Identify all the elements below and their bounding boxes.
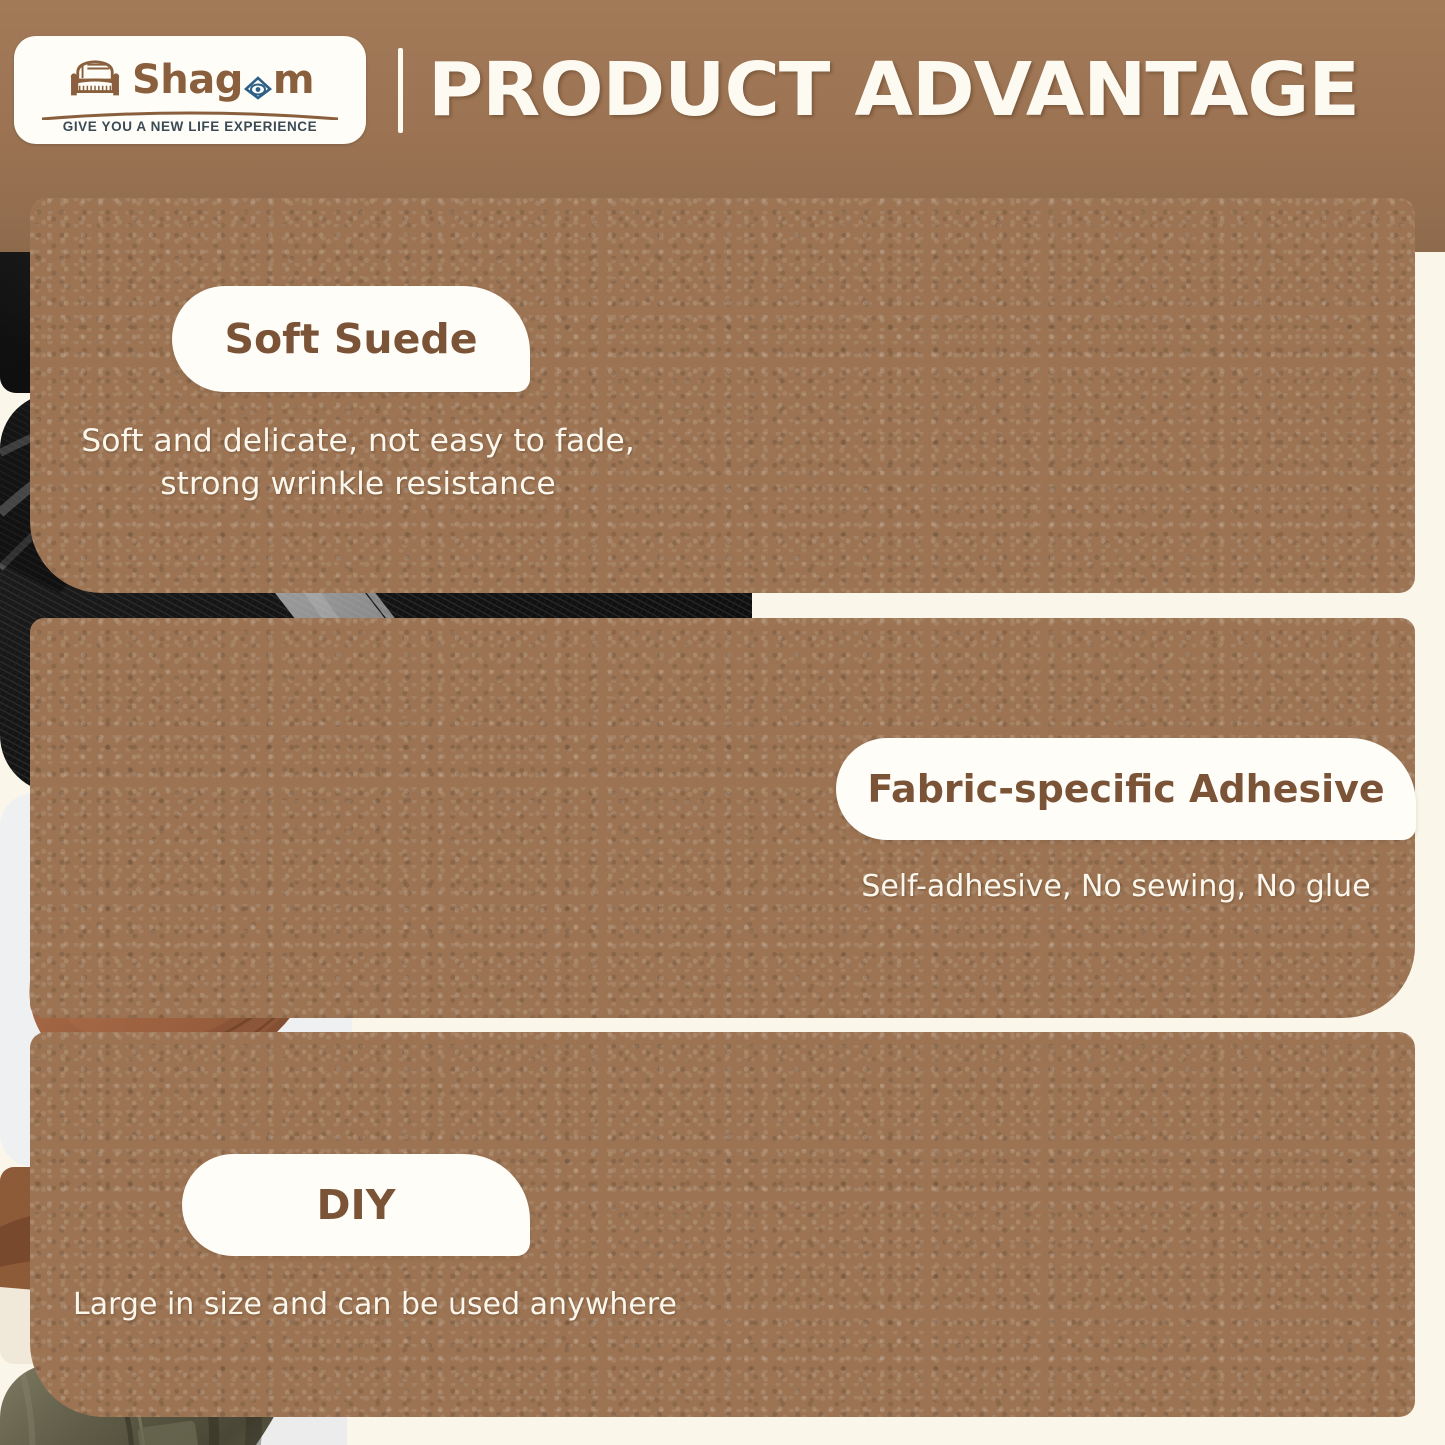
feature-label-pill-diy: DIY bbox=[182, 1154, 530, 1256]
caption-line: Soft and delicate, not easy to fade, bbox=[58, 420, 658, 463]
feature-label-text: Soft Suede bbox=[224, 315, 477, 363]
logo-main-row: Shag m bbox=[66, 51, 314, 109]
feature-panel-fabric-adhesive: Fabric-specific Adhesive Self-adhesive, … bbox=[30, 618, 1415, 1018]
feature-caption-soft-suede: Soft and delicate, not easy to fade, str… bbox=[58, 420, 658, 507]
feature-label-text: DIY bbox=[317, 1181, 396, 1229]
header-divider bbox=[398, 48, 403, 133]
feature-panel-diy: DIY Large in size and can be used anywhe… bbox=[30, 1032, 1415, 1417]
logo-word-part-1: Shag bbox=[132, 60, 243, 100]
feature-caption-fabric-adhesive: Self-adhesive, No sewing, No glue bbox=[812, 866, 1420, 907]
logo-tagline: GIVE YOU A NEW LIFE EXPERIENCE bbox=[63, 119, 318, 134]
caption-line: strong wrinkle resistance bbox=[58, 463, 658, 506]
logo-wordmark: Shag m bbox=[132, 60, 314, 100]
infographic-canvas: Shag m GIVE YOU A NEW LIFE EXPERIENCE PR… bbox=[0, 0, 1445, 1445]
page-title: PRODUCT ADVANTAGE bbox=[428, 34, 1359, 146]
feature-label-pill-fabric-adhesive: Fabric-specific Adhesive bbox=[836, 738, 1416, 840]
feature-caption-diy: Large in size and can be used anywhere bbox=[50, 1284, 700, 1325]
feature-label-pill-soft-suede: Soft Suede bbox=[172, 286, 530, 392]
feature-panel-soft-suede: Soft Suede Soft and delicate, not easy t… bbox=[30, 198, 1415, 593]
brand-logo: Shag m GIVE YOU A NEW LIFE EXPERIENCE bbox=[14, 36, 366, 144]
sofa-icon bbox=[66, 57, 124, 103]
logo-word-part-2: m bbox=[273, 60, 314, 100]
feature-label-text: Fabric-specific Adhesive bbox=[867, 767, 1384, 811]
eye-diamond-icon bbox=[244, 68, 272, 96]
